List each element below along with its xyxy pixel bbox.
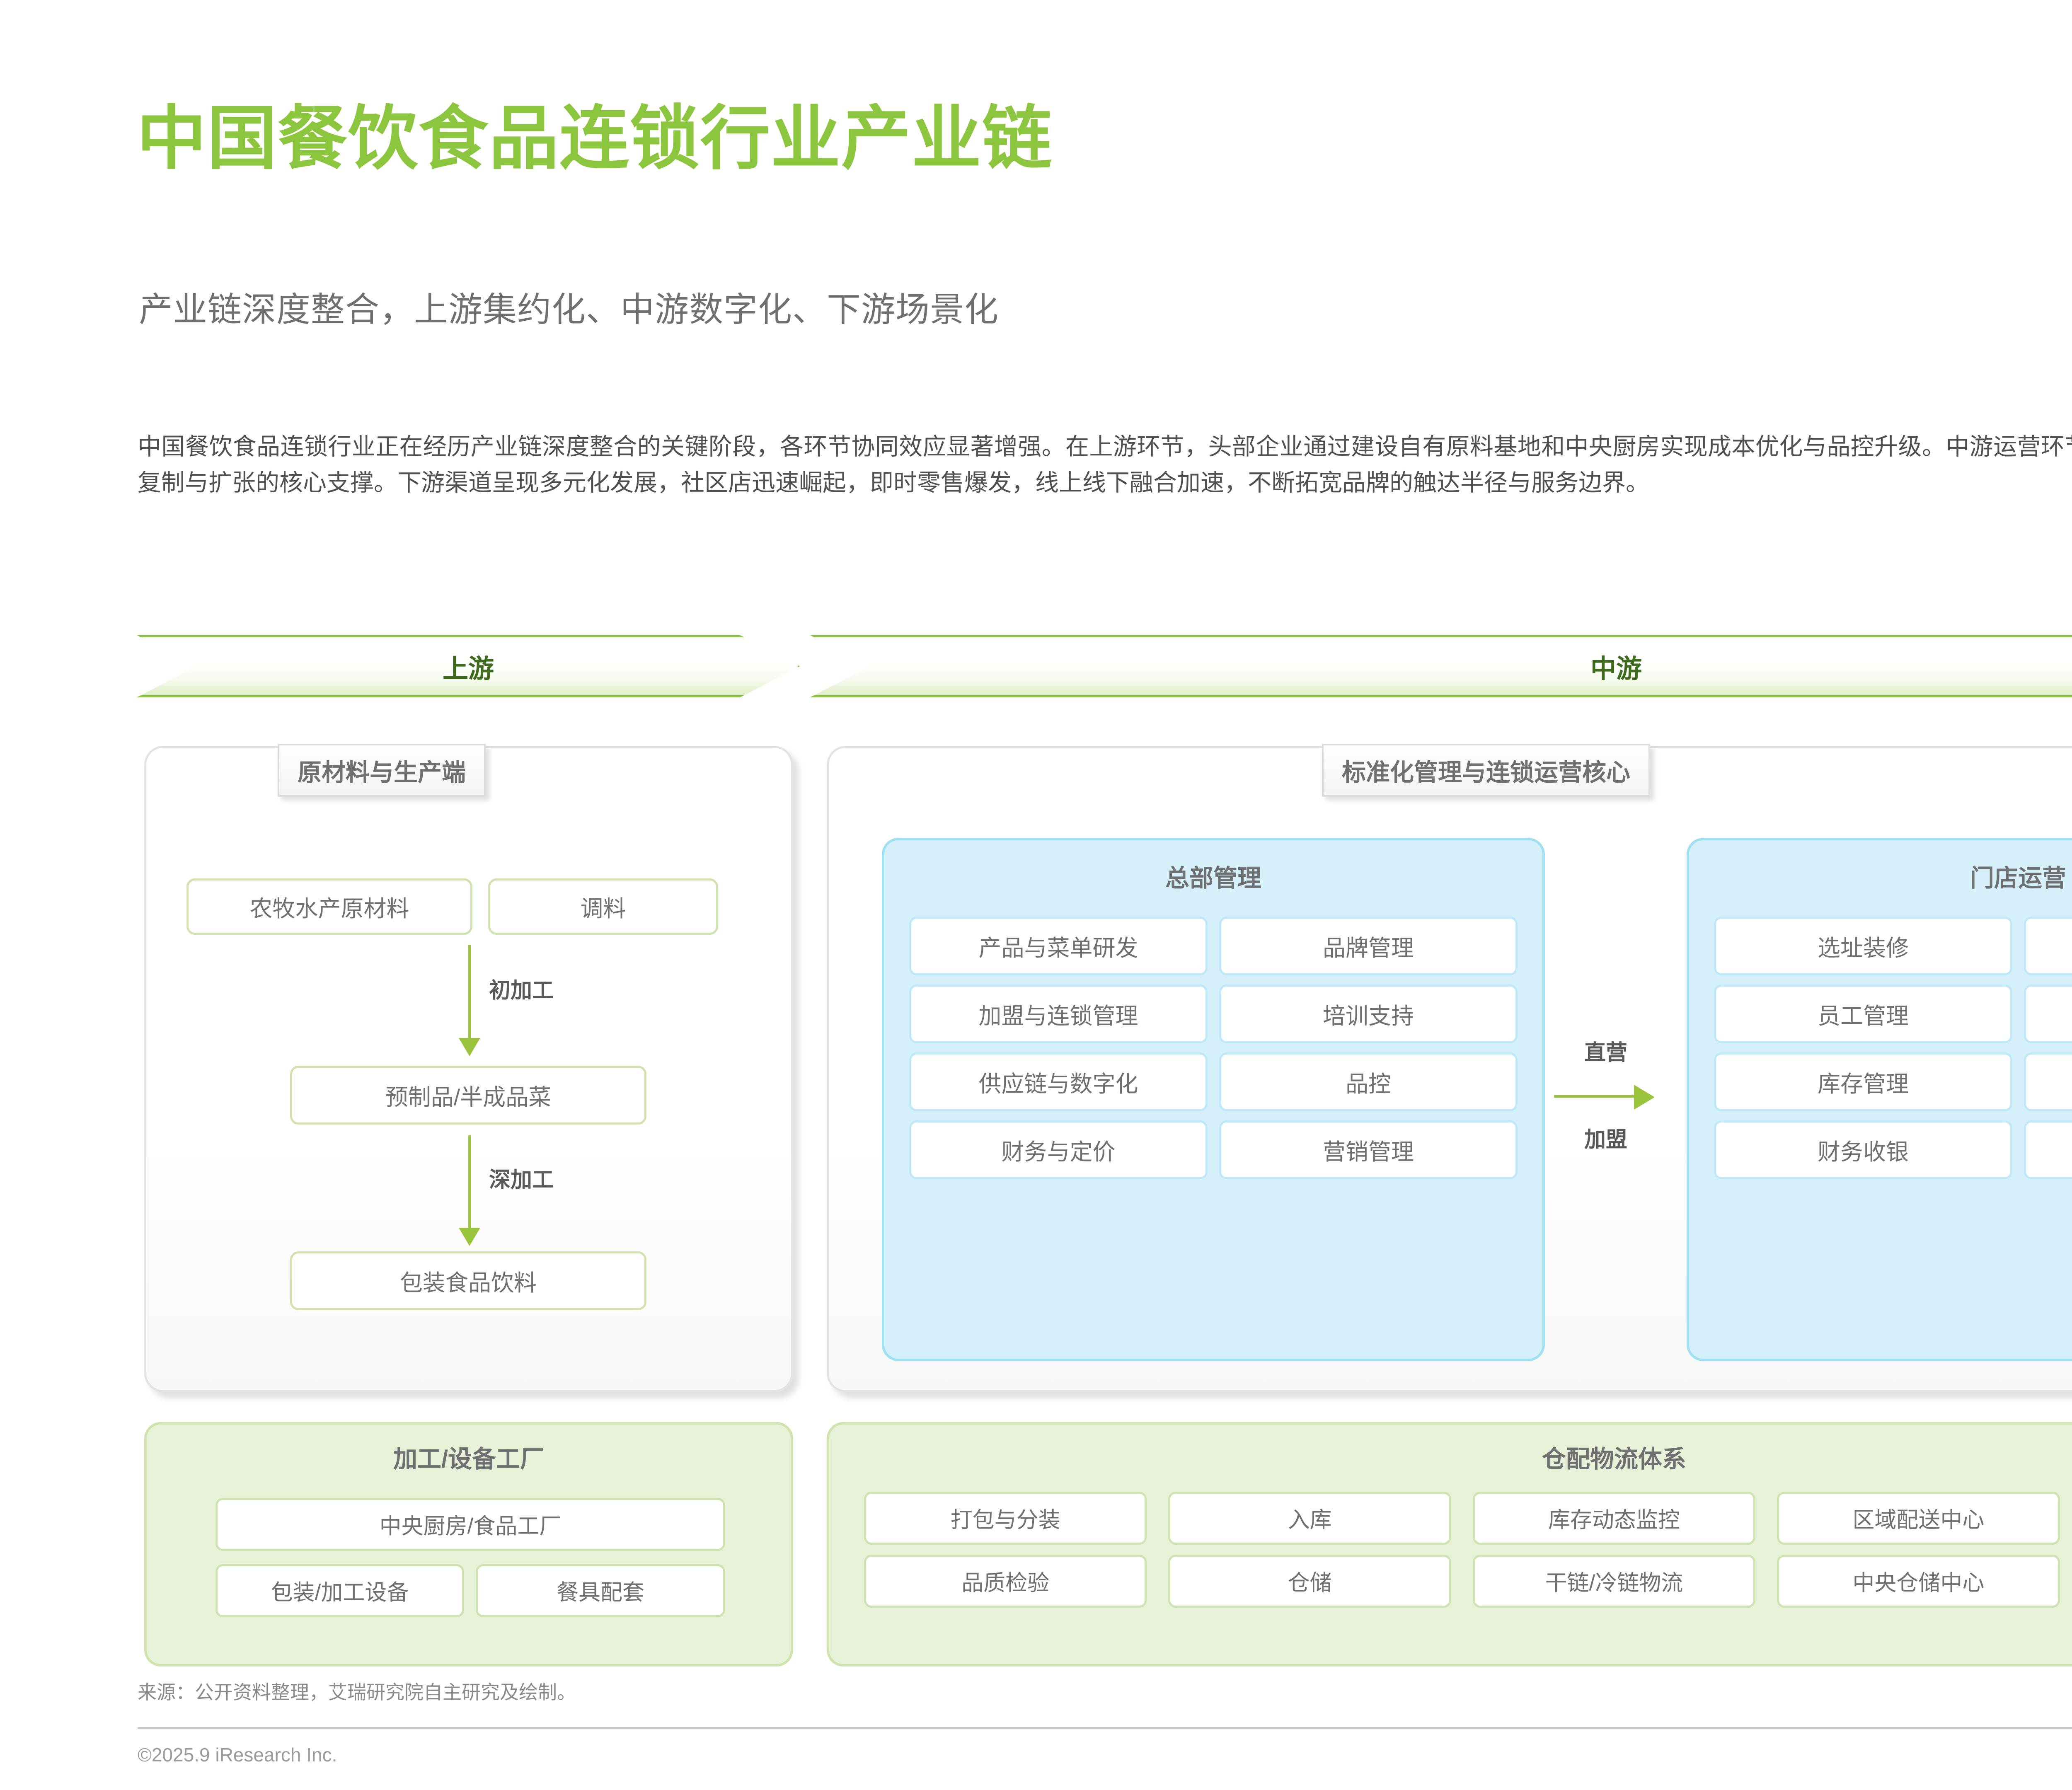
caption-upstream: 原材料与生产端 <box>278 744 486 797</box>
processing-factory-item: 中央厨房/食品工厂 <box>215 1498 725 1551</box>
source-note: 来源：公开资料整理，艾瑞研究院自主研究及绘制。 <box>138 1677 576 1705</box>
page-title: 中国餐饮食品连锁行业产业链 <box>137 104 1053 173</box>
connector-arrow-line <box>1554 1095 1637 1098</box>
node-seasoning: 调料 <box>488 878 718 935</box>
banner-upstream: 上游 <box>137 635 800 697</box>
store-item: 门店出餐 <box>2024 917 2072 975</box>
group-store-title: 门店运营 <box>1689 859 2072 893</box>
warehouse-logistics-item: 库存动态监控 <box>1473 1492 1755 1545</box>
store-item: 食品安全 <box>2024 1120 2072 1179</box>
processing-factory-item: 餐具配套 <box>476 1564 725 1617</box>
connector-arrow-head-icon <box>1634 1085 1655 1110</box>
hq-item: 品控 <box>1219 1052 1518 1111</box>
hq-item: 加盟与连锁管理 <box>909 984 1208 1043</box>
banner-midstream: 中游 <box>810 635 2072 697</box>
warehouse-logistics-item: 区域配送中心 <box>1777 1492 2060 1545</box>
warehouse-logistics-title: 仓配物流体系 <box>829 1439 2072 1474</box>
group-hq-title: 总部管理 <box>884 859 1542 893</box>
processing-factory-item: 包装/加工设备 <box>215 1564 464 1617</box>
hq-item: 营销管理 <box>1219 1120 1518 1179</box>
connector-hq-to-store: 直营 加盟 <box>1558 1032 1682 1177</box>
warehouse-logistics-item: 仓储 <box>1168 1555 1451 1608</box>
processing-factory-title: 加工/设备工厂 <box>147 1439 791 1474</box>
hq-item: 产品与菜单研发 <box>909 917 1208 975</box>
body-paragraph: 中国餐饮食品连锁行业正在经历产业链深度整合的关键阶段，各环节协同效应显著增强。在… <box>138 429 2072 501</box>
arrow-label-primary-processing: 初加工 <box>489 973 554 1004</box>
store-item: 选址装修 <box>1714 917 2012 975</box>
arrow-label-deep-processing: 深加工 <box>489 1162 554 1193</box>
warehouse-logistics-item: 中央仓储中心 <box>1777 1555 2060 1608</box>
hq-item: 品牌管理 <box>1219 917 1518 975</box>
arrow-deep-processing-head-icon <box>459 1228 480 1246</box>
hq-item: 培训支持 <box>1219 984 1518 1043</box>
copyright-text: ©2025.9 iResearch Inc. <box>138 1744 337 1766</box>
footer-divider <box>138 1727 2072 1729</box>
arrow-primary-processing-line <box>468 945 471 1040</box>
node-packaged-food: 包装食品饮料 <box>290 1251 646 1310</box>
warehouse-logistics-item: 干链/冷链物流 <box>1473 1555 1755 1608</box>
slide-page: 中国餐饮食品连锁行业产业链 产业链深度整合，上游集约化、中游数字化、下游场景化 … <box>0 0 2072 1790</box>
arrow-deep-processing-line <box>468 1135 471 1230</box>
store-item: 员工管理 <box>1714 984 2012 1043</box>
node-semi-finished: 预制品/半成品菜 <box>290 1066 646 1125</box>
store-item: 财务收银 <box>1714 1120 2012 1179</box>
connector-label-direct: 直营 <box>1558 1035 1653 1066</box>
store-item: 配套服务 <box>2024 984 2072 1043</box>
page-subtitle: 产业链深度整合，上游集约化、中游数字化、下游场景化 <box>139 282 999 331</box>
warehouse-logistics-item: 打包与分装 <box>864 1492 1147 1545</box>
store-item: 库存管理 <box>1714 1052 2012 1111</box>
hq-item: 供应链与数字化 <box>909 1052 1208 1111</box>
group-store-grid: 选址装修 门店出餐 员工管理 配套服务 库存管理 门店促销 财务收银 食品安全 <box>1714 917 2072 1179</box>
node-raw-material: 农牧水产原材料 <box>186 878 472 935</box>
warehouse-logistics-item: 品质检验 <box>864 1555 1147 1608</box>
connector-label-franchise: 加盟 <box>1558 1122 1653 1153</box>
arrow-primary-processing-head-icon <box>459 1038 480 1056</box>
group-hq-management: 总部管理 产品与菜单研发 品牌管理 加盟与连锁管理 培训支持 供应链与数字化 品… <box>882 838 1545 1361</box>
caption-midstream: 标准化管理与连锁运营核心 <box>1322 744 1650 797</box>
store-item: 门店促销 <box>2024 1052 2072 1111</box>
hq-item: 财务与定价 <box>909 1120 1208 1179</box>
warehouse-logistics-item: 入库 <box>1168 1492 1451 1545</box>
group-hq-grid: 产品与菜单研发 品牌管理 加盟与连锁管理 培训支持 供应链与数字化 品控 财务与… <box>909 917 1518 1179</box>
warehouse-logistics-grid: 打包与分装 入库 库存动态监控 区域配送中心 门店数字系统 品质检验 仓储 干链… <box>864 1492 2072 1608</box>
group-store-operations: 门店运营 选址装修 门店出餐 员工管理 配套服务 库存管理 门店促销 财务收银 … <box>1687 838 2072 1361</box>
